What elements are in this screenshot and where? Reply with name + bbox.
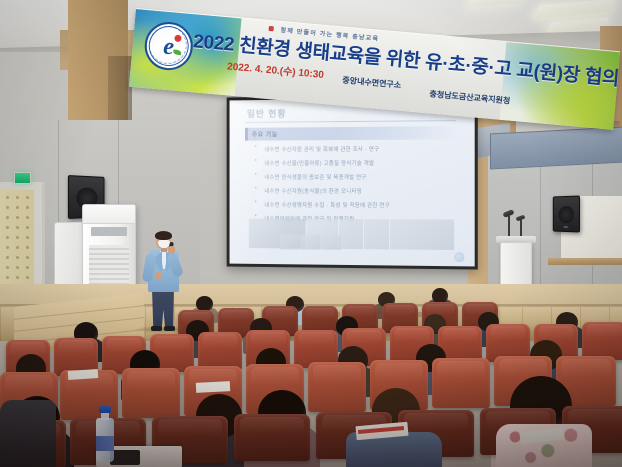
auditorium-seat[interactable] bbox=[432, 358, 490, 408]
handout-paper bbox=[196, 381, 230, 393]
attendee-garment bbox=[0, 400, 56, 467]
auditorium-seat[interactable] bbox=[122, 368, 180, 418]
audience-head bbox=[196, 296, 213, 311]
bottle-label bbox=[96, 436, 114, 451]
auditorium-seat[interactable] bbox=[198, 332, 242, 370]
audience-head bbox=[432, 288, 448, 303]
auditorium-photo: JBL JBL 일반 현황 주요 기능 내수면 수산자원 관리 및 회복에 관한… bbox=[0, 0, 622, 467]
smartphone[interactable] bbox=[110, 450, 140, 465]
auditorium-seat[interactable] bbox=[582, 322, 622, 360]
auditorium-seat[interactable] bbox=[234, 414, 310, 461]
auditorium-seat[interactable] bbox=[308, 362, 366, 412]
audience-area bbox=[0, 0, 622, 467]
bottle-cap bbox=[99, 406, 111, 413]
